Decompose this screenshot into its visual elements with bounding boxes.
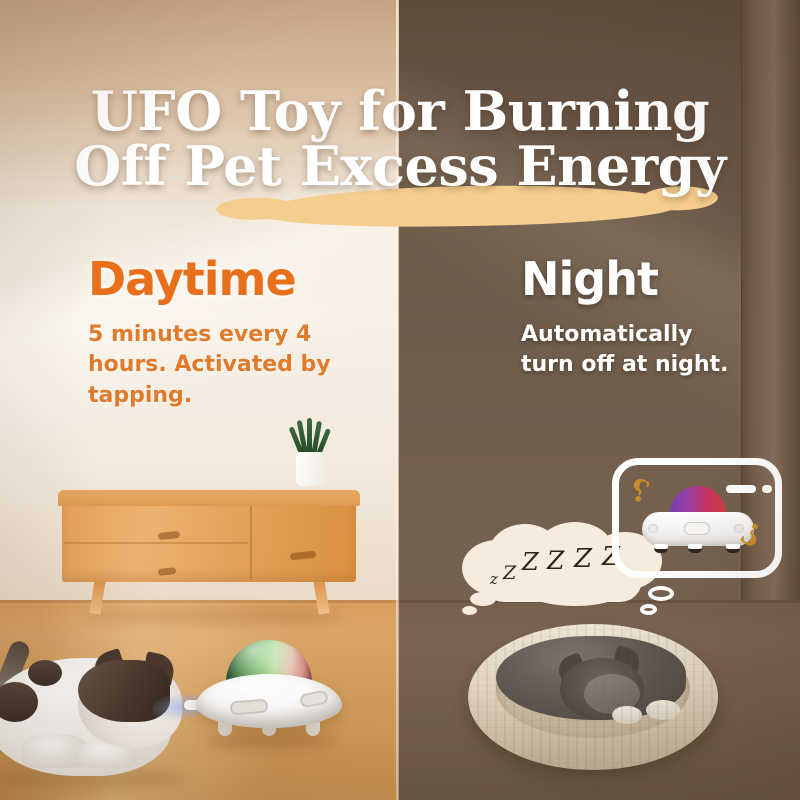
mini-ufo-button [684, 522, 710, 535]
sideboard-shadow [82, 608, 344, 624]
pet-bed [468, 616, 718, 776]
mini-ufo-slot [648, 524, 658, 533]
sideboard-seam-horizontal [64, 542, 248, 544]
mini-ufo-toy [638, 486, 756, 558]
night-description: Automatically turn off at night. [521, 320, 751, 381]
playing-cat-patch [28, 660, 62, 686]
day-baseboard [0, 600, 398, 603]
plant-pot [296, 452, 324, 486]
dream-bubble-small [640, 604, 657, 615]
thought-bubble-tail-large [470, 592, 496, 606]
ufo-toy-slot [230, 699, 269, 716]
thought-bubble-tail-small [462, 606, 477, 615]
dream-frame-highlight [762, 485, 772, 493]
page-title: UFO Toy for Burning Off Pet Excess Energ… [0, 84, 800, 194]
mini-ufo-leg [688, 544, 702, 553]
ufo-toy-product [196, 640, 342, 750]
night-heading: Night [521, 256, 751, 302]
plant-leaves [292, 418, 330, 456]
night-text-column: Night Automatically turn off at night. [521, 256, 751, 381]
daytime-description: 5 minutes every 4 hours. Activated by ta… [88, 320, 358, 411]
sideboard-furniture [58, 490, 360, 600]
sideboard-seam-vertical [250, 506, 252, 580]
product-infographic: UFO Toy for Burning Off Pet Excess Energ… [0, 0, 800, 800]
mini-ufo-leg [654, 544, 668, 553]
sideboard-top [58, 490, 360, 506]
pet-bed-weave-texture [468, 624, 718, 770]
daytime-text-column: Daytime 5 minutes every 4 hours. Activat… [88, 256, 358, 411]
daytime-heading: Daytime [88, 256, 358, 302]
dream-bubble-large [648, 586, 674, 601]
